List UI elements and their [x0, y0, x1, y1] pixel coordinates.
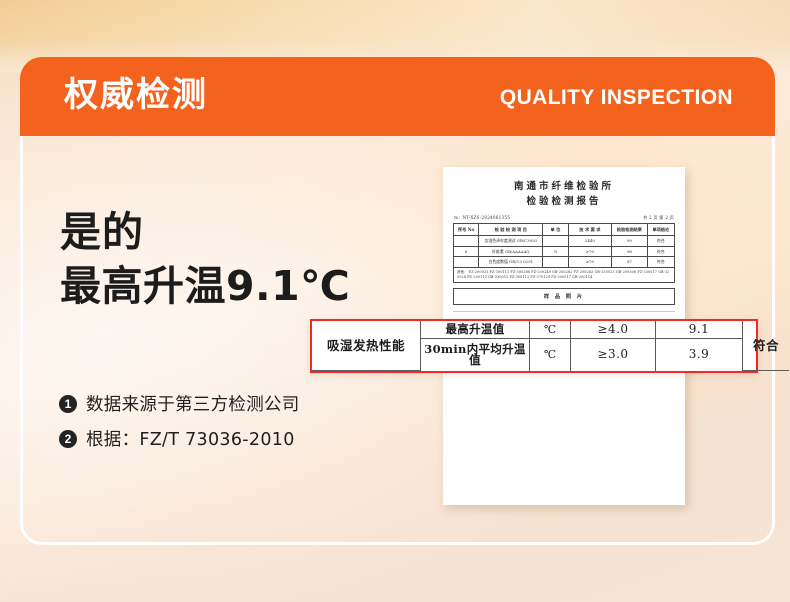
cell-spec: ≥70	[568, 257, 612, 267]
report-page-info: 共 2 页 第 2 页	[643, 214, 674, 221]
list-item-label: 数据来源于第三方检测公司	[86, 391, 300, 416]
cell-item: 纤维素 GB/AAAAAQ	[479, 246, 543, 256]
cell-spec-max-rise: ≥4.0	[571, 321, 656, 339]
headline-line-1: 是的	[60, 206, 350, 258]
column-header-no: 序号 No	[454, 224, 479, 236]
footnote-list: 1 数据来源于第三方检测公司 2 根据：FZ/T 73036-2010	[59, 388, 389, 458]
cell-spec: ≥70	[568, 246, 612, 256]
section-header-bar: 权威检测 QUALITY INSPECTION	[20, 57, 775, 136]
numbered-bullet-icon: 2	[59, 430, 77, 448]
column-header-spec: 技 术 要 求	[568, 224, 612, 236]
cell-unit-max-rise: ℃	[530, 321, 571, 339]
cell-item: 含湿色泽牢度测试 GB/C3920	[479, 236, 543, 246]
report-results-table: 序号 No 检 验 检 测 项 目 单 位 技 术 要 求 检验检测结果 单项结…	[453, 223, 675, 268]
cell-result: 87	[612, 257, 647, 267]
column-header-unit: 单 位	[543, 224, 568, 236]
column-header-conclusion: 单项结论	[647, 224, 674, 236]
list-item: 2 根据：FZ/T 73036-2010	[59, 423, 389, 454]
cell-conclusion: 符合	[647, 246, 674, 256]
headline-block: 是的 最高升温9.1℃	[60, 206, 350, 314]
table-row: 吸湿发热性能 最高升温值 ℃ ≥4.0 9.1 符合	[312, 321, 789, 339]
cell-value-max-rise: 9.1	[656, 321, 743, 339]
divider	[453, 311, 675, 312]
cell-result: 99	[612, 236, 647, 246]
table-row: 含湿色泽牢度测试 GB/C3920 2440 99 符合	[454, 236, 675, 246]
cell-result: 98	[612, 246, 647, 256]
cell-spec: 2440	[568, 236, 612, 246]
numbered-bullet-icon: 1	[59, 395, 77, 413]
cell-no	[454, 257, 479, 267]
cell-spec-avg-rise: ≥3.0	[571, 339, 656, 371]
list-item-label: 根据：FZ/T 73036-2010	[86, 426, 295, 451]
cell-property-label: 吸湿发热性能	[312, 321, 421, 371]
headline-line-2: 最高升温9.1℃	[60, 258, 350, 314]
table-row: 6 纤维素 GB/AAAAAQ % ≥70 98 符合	[454, 246, 675, 256]
report-note: 其他： FZ-200031 FZ-300111 FZ-300288 FZ-200…	[453, 268, 675, 283]
cell-unit	[543, 257, 568, 267]
cell-item-avg-rise: 30min内平均升温值	[421, 339, 530, 371]
cell-no	[454, 236, 479, 246]
sample-photo-band: 样 品 照 片	[453, 288, 675, 305]
list-item: 1 数据来源于第三方检测公司	[59, 388, 389, 419]
table-header-row: 序号 No 检 验 检 测 项 目 单 位 技 术 要 求 检验检测结果 单项结…	[454, 224, 675, 236]
table-row: 白色度数值 GB/C3 0291 ≥70 87 符合	[454, 257, 675, 267]
cell-conclusion: 符合	[743, 321, 790, 371]
report-title: 检验检测报告	[453, 194, 675, 210]
promo-page: 权威检测 QUALITY INSPECTION 是的 最高升温9.1℃ 1 数据…	[0, 0, 790, 602]
column-header-item: 检 验 检 测 项 目	[479, 224, 543, 236]
page-title-english: QUALITY INSPECTION	[500, 85, 733, 111]
column-header-result: 检验检测结果	[612, 224, 647, 236]
cell-no: 6	[454, 246, 479, 256]
cell-item-max-rise: 最高升温值	[421, 321, 530, 339]
report-meta: №：NT-XZS-2024061355 共 2 页 第 2 页	[453, 214, 675, 223]
cell-unit	[543, 236, 568, 246]
cell-unit: %	[543, 246, 568, 256]
cell-value-avg-rise: 3.9	[656, 339, 743, 371]
report-organization: 南通市纤维检验所	[453, 179, 675, 194]
report-number: №：NT-XZS-2024061355	[454, 214, 510, 221]
cell-conclusion: 符合	[647, 236, 674, 246]
cell-unit-avg-rise: ℃	[530, 339, 571, 371]
page-title: 权威检测	[64, 72, 208, 118]
cell-item: 白色度数值 GB/C3 0291	[479, 257, 543, 267]
result-table: 吸湿发热性能 最高升温值 ℃ ≥4.0 9.1 符合 30min内平均升温值 ℃…	[312, 321, 789, 371]
highlighted-result-callout: 吸湿发热性能 最高升温值 ℃ ≥4.0 9.1 符合 30min内平均升温值 ℃…	[310, 319, 758, 373]
cell-conclusion: 符合	[647, 257, 674, 267]
